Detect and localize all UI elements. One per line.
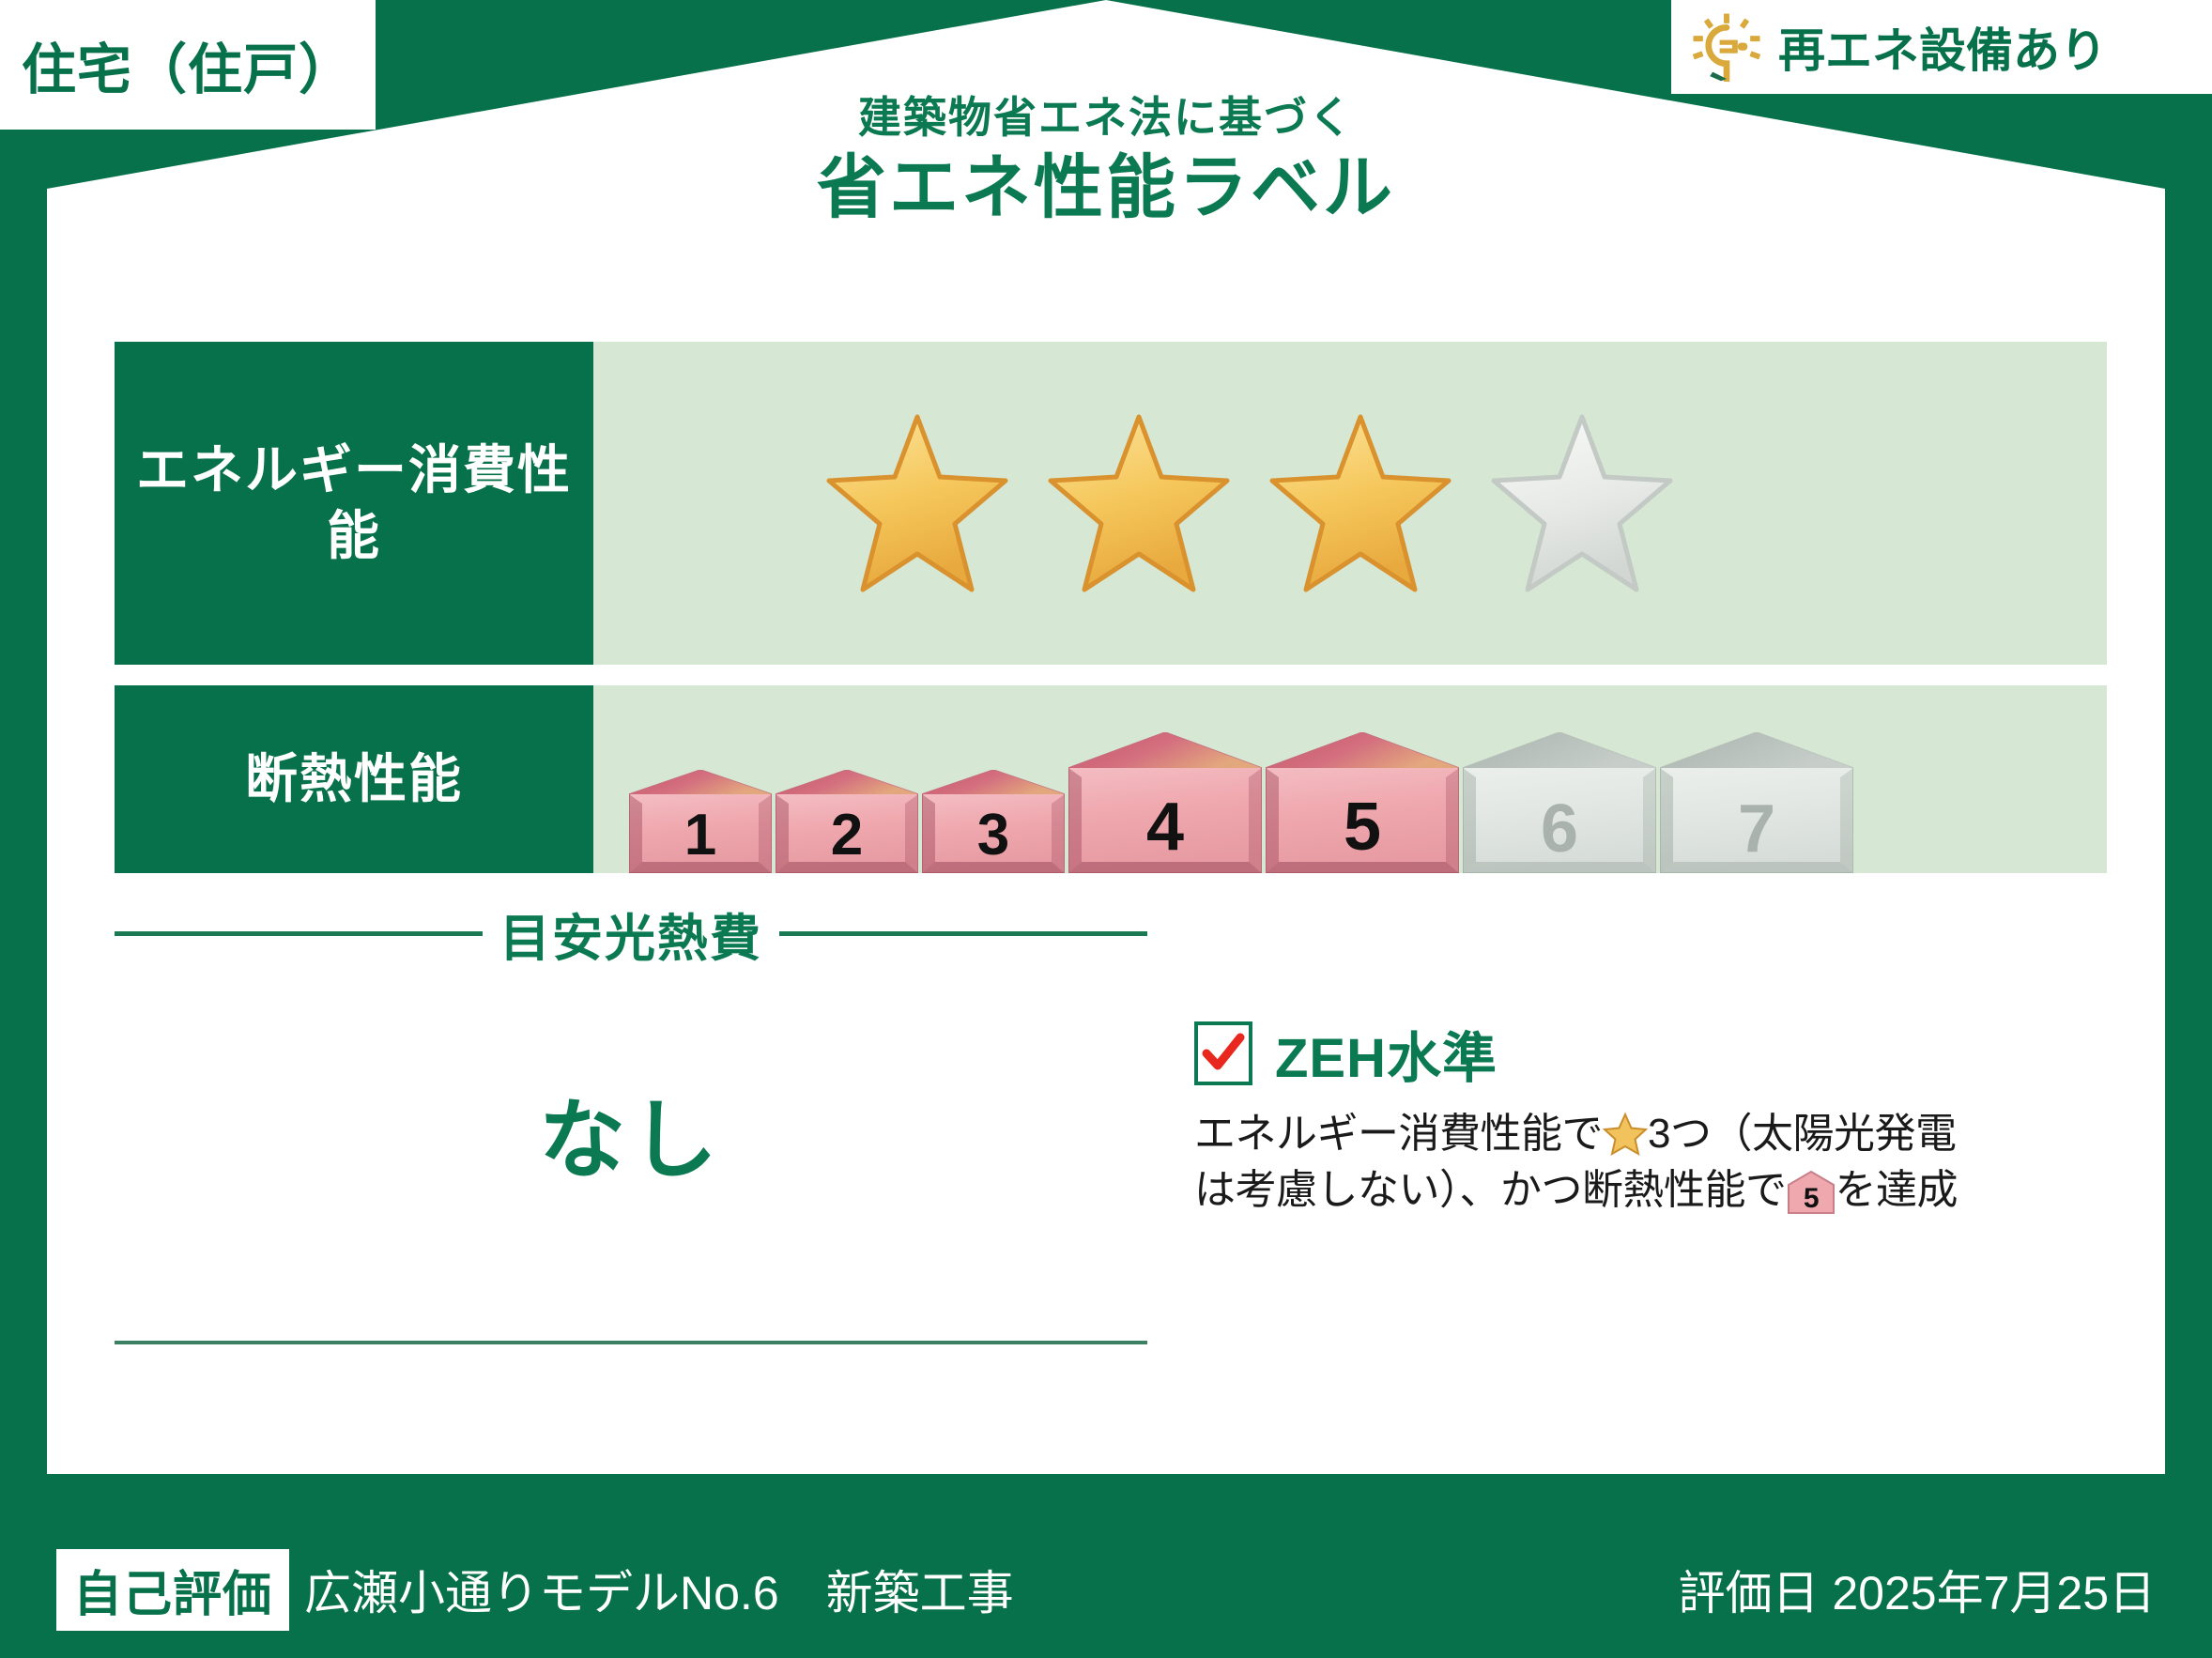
page-title: 省エネ性能ラベル (0, 149, 2212, 225)
insulation-level-number: 3 (922, 802, 1065, 868)
insulation-level-4: 4 (1068, 732, 1262, 873)
insulation-level-7: 7 (1660, 732, 1853, 873)
building-type-badge: 住宅（住戸） (0, 0, 376, 130)
insulation-performance-row: 断熱性能 1234567 (115, 685, 2107, 873)
star-filled-icon (819, 409, 1016, 597)
insulation-level-number: 5 (1266, 789, 1459, 866)
renewable-energy-badge: 再エネ設備あり (1671, 0, 2212, 94)
renewable-energy-label: 再エネ設備あり (1778, 13, 2107, 81)
insulation-level-1: 1 (629, 770, 772, 873)
insulation-level-number: 7 (1660, 791, 1853, 867)
energy-performance-label-text: エネルギー消費性能 (115, 438, 593, 569)
zeh-description-line-1: エネルギー消費性能で 3つ（太陽光発電 (1194, 1106, 2143, 1162)
zeh-title: ZEH水準 (1275, 1014, 1498, 1093)
check-icon (1202, 1032, 1245, 1075)
inline-house-rating-number: 5 (1803, 1183, 1818, 1214)
utility-cost-underline (115, 1341, 1147, 1344)
divider-left (115, 931, 483, 936)
divider-right (779, 931, 1147, 936)
zeh-desc-text-2a: は考慮しない）、かつ断熱性能で (1194, 1162, 1787, 1219)
insulation-level-number: 4 (1068, 789, 1262, 866)
utility-cost-header: 目安光熱費 (115, 897, 1147, 971)
energy-performance-row: エネルギー消費性能 (115, 342, 2107, 665)
star-empty-icon (1483, 409, 1681, 597)
zeh-desc-text-1a: エネルギー消費性能で (1194, 1106, 1603, 1162)
insulation-level-5: 5 (1266, 732, 1459, 873)
footer: 自己評価 広瀬小通りモデルNo.6 新築工事 評価日 2025年7月25日 (0, 1521, 2212, 1658)
insulation-level-2: 2 (776, 770, 918, 873)
insulation-level-3: 3 (922, 770, 1065, 873)
evaluation-type-badge: 自己評価 (56, 1549, 289, 1631)
zeh-description: エネルギー消費性能で 3つ（太陽光発電 は考慮しない）、かつ断熱性能で 5 を達… (1194, 1106, 2143, 1219)
zeh-title-row: ZEH水準 (1194, 1014, 2143, 1093)
zeh-description-line-2: は考慮しない）、かつ断熱性能で 5 を達成 (1194, 1162, 2143, 1219)
zeh-desc-text-1b: 3つ（太陽光発電 (1648, 1106, 1956, 1162)
inline-star-icon (1603, 1112, 1648, 1157)
inline-house-rating-icon: 5 (1787, 1170, 1836, 1215)
insulation-level-6: 6 (1463, 732, 1656, 873)
insulation-level-number: 2 (776, 802, 918, 868)
insulation-performance-label: 断熱性能 (115, 685, 593, 873)
zeh-desc-text-2b: を達成 (1836, 1162, 1959, 1219)
zeh-checkbox[interactable] (1194, 1021, 1252, 1085)
star-filled-icon (1262, 409, 1459, 597)
star-rating (593, 342, 2107, 665)
solar-plug-icon (1692, 12, 1761, 82)
zeh-block: ZEH水準 エネルギー消費性能で 3つ（太陽光発電 は考慮しない）、かつ断熱性能… (1194, 1014, 2143, 1219)
insulation-house-scale: 1234567 (629, 732, 1853, 873)
insulation-scale-body: 1234567 (593, 685, 2107, 873)
insulation-level-number: 1 (629, 802, 772, 868)
building-type-label: 住宅（住戸） (22, 25, 354, 104)
insulation-level-number: 6 (1463, 791, 1656, 867)
project-name: 広瀬小通りモデルNo.6 新築工事 (304, 1556, 1014, 1623)
star-filled-icon (1040, 409, 1237, 597)
utility-cost-title: 目安光熱費 (499, 897, 762, 971)
insulation-performance-label-text: 断熱性能 (245, 746, 463, 812)
utility-cost-value: なし (115, 1070, 1147, 1195)
energy-performance-label: エネルギー消費性能 (115, 342, 593, 665)
evaluation-date: 評価日 2025年7月25日 (1678, 1556, 2156, 1623)
